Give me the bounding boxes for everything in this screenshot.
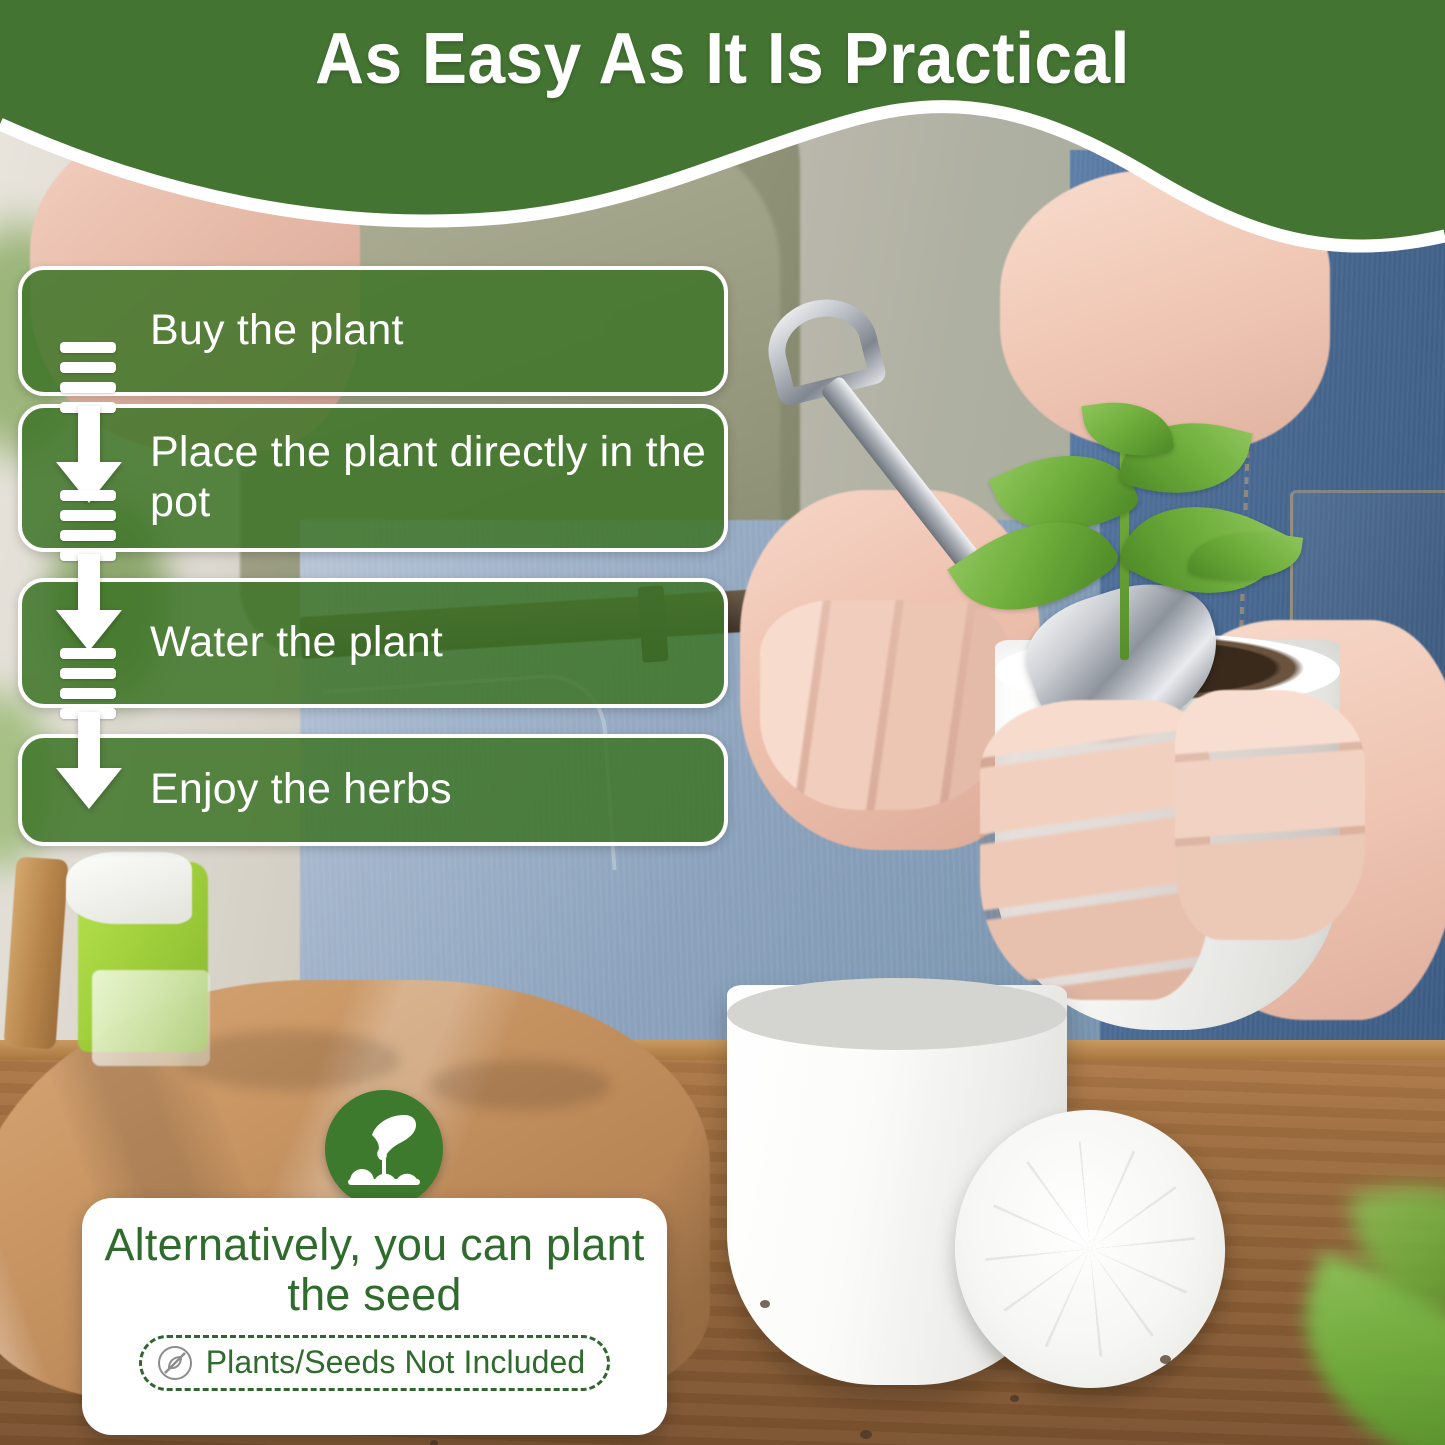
hand-planting-seed-icon bbox=[325, 1090, 443, 1208]
photo-bag-fold bbox=[180, 1030, 400, 1090]
arrow-down-icon bbox=[54, 712, 124, 810]
no-plant-icon bbox=[156, 1344, 194, 1382]
photo-fingers-left bbox=[760, 600, 1010, 810]
photo-pot-on-table-rim bbox=[727, 978, 1067, 1050]
callout-title: Alternatively, you can plant the seed bbox=[82, 1220, 667, 1321]
photo-fingers-on-pot-right bbox=[1175, 690, 1365, 940]
steps-list: Buy the plant Place the plant directly i… bbox=[0, 0, 760, 900]
photo-bag-fold bbox=[430, 1060, 610, 1110]
disclaimer-badge: Plants/Seeds Not Included bbox=[139, 1335, 611, 1391]
alternative-callout-card: Alternatively, you can plant the seed Pl… bbox=[82, 1198, 667, 1435]
disclaimer-text: Plants/Seeds Not Included bbox=[206, 1344, 586, 1381]
arrow-down-icon bbox=[54, 554, 124, 652]
infographic-canvas: As Easy As It Is Practical Buy the plant… bbox=[0, 0, 1445, 1445]
photo-glass-jar bbox=[92, 970, 210, 1066]
step-connectors bbox=[0, 0, 200, 900]
